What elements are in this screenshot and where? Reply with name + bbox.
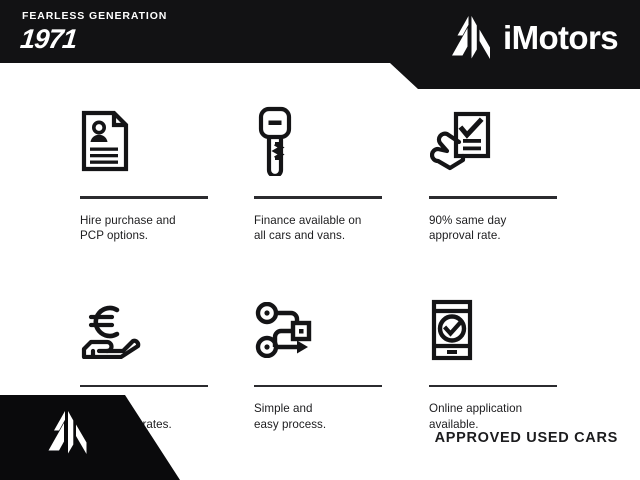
header: FEARLESS GENERATION 1971 iMotors: [0, 0, 640, 89]
brand-lockup[interactable]: iMotors: [446, 14, 618, 61]
imotors-chevron-mark-icon: [43, 409, 90, 456]
feature-caption: Finance available on all cars and vans.: [254, 213, 428, 244]
feature-icon-slot: [254, 289, 428, 371]
feature-caption-line-1: 90% same day: [429, 213, 603, 229]
header-tagline-text: FEARLESS GENERATION: [22, 9, 242, 23]
document-person-icon: [81, 110, 131, 172]
brand-name-text: iMotors: [503, 19, 618, 57]
feature-icon-slot: [80, 100, 254, 182]
feature-caption-line-2: PCP options.: [80, 228, 254, 244]
feature-approval-rate: 90% same day approval rate.: [429, 100, 603, 244]
feature-caption-line-2: approval rate.: [429, 228, 603, 244]
process-flow-icon: [255, 302, 317, 358]
feature-divider: [429, 385, 557, 388]
header-tagline-block: FEARLESS GENERATION 1971: [22, 9, 242, 54]
feature-finance-available: Finance available on all cars and vans.: [254, 100, 428, 244]
feature-divider: [80, 196, 208, 199]
feature-caption-line-1: Finance available on: [254, 213, 428, 229]
footer-background-shape: [0, 395, 200, 480]
footer: APPROVED USED CARS: [0, 395, 640, 480]
smartphone-check-icon: [430, 299, 474, 361]
feature-divider: [429, 196, 557, 199]
header-year-text: 1971: [19, 24, 242, 54]
feature-caption-line-1: Hire purchase and: [80, 213, 254, 229]
feature-icon-slot: [429, 100, 603, 182]
promo-banner: FEARLESS GENERATION 1971 iMotors: [0, 0, 640, 480]
feature-hire-purchase: Hire purchase and PCP options.: [80, 100, 254, 244]
car-key-icon: [255, 106, 297, 176]
hand-holding-euro-icon: [81, 301, 143, 359]
feature-divider: [254, 196, 382, 199]
feature-caption: 90% same day approval rate.: [429, 213, 603, 244]
hand-holding-checklist-icon: [430, 111, 492, 171]
feature-grid: Hire purchase and PCP options. Fi: [0, 100, 640, 432]
feature-icon-slot: [254, 100, 428, 182]
feature-caption-line-2: all cars and vans.: [254, 228, 428, 244]
feature-icon-slot: [429, 289, 603, 371]
feature-row-1: Hire purchase and PCP options. Fi: [0, 100, 640, 244]
feature-divider: [254, 385, 382, 388]
feature-icon-slot: [80, 289, 254, 371]
feature-caption: Hire purchase and PCP options.: [80, 213, 254, 244]
feature-divider: [80, 385, 208, 388]
imotors-chevron-mark-icon: [446, 14, 494, 61]
footer-tagline-text: APPROVED USED CARS: [435, 430, 618, 446]
